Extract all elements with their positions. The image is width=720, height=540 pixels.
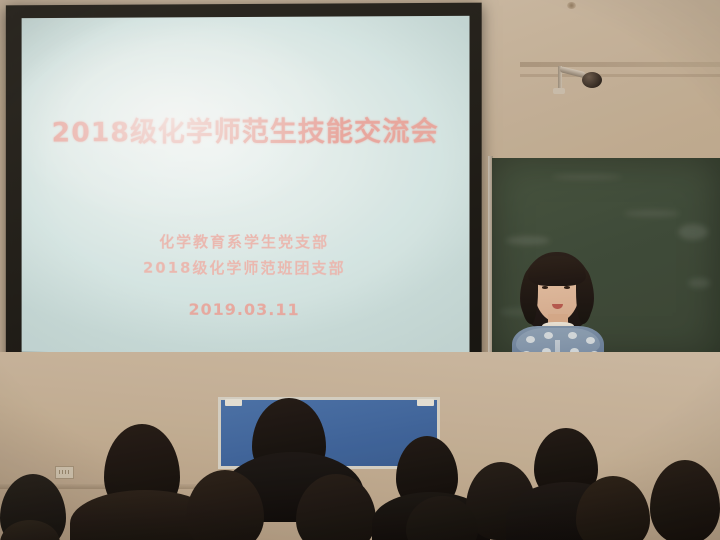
projection-screen: 2018级化学师范生技能交流会 化学教育系学生党支部 2018级化学师范班团支部… <box>22 16 470 354</box>
presenter-eye-right <box>564 286 570 289</box>
security-camera-icon <box>582 72 602 88</box>
lecture-hall-photo: 2018级化学师范生技能交流会 化学教育系学生党支部 2018级化学师范班团支部… <box>0 0 720 540</box>
wall-power-outlet <box>55 466 74 479</box>
presenter-eye-left <box>542 286 548 289</box>
slide-date: 2019.03.11 <box>22 299 470 320</box>
ceiling-fixture-icon <box>567 2 576 9</box>
ceiling-beam <box>520 62 720 67</box>
slide-title: 2018级化学师范生技能交流会 <box>22 109 470 149</box>
slide-subtitle-line1: 化学教育系学生党支部 <box>22 231 470 253</box>
camera-bracket <box>553 88 565 94</box>
projection-screen-frame: 2018级化学师范生技能交流会 化学教育系学生党支部 2018级化学师范班团支部… <box>6 3 482 370</box>
slide-subtitle-line2: 2018级化学师范班团支部 <box>22 257 470 279</box>
ceiling-beam-secondary <box>520 74 720 77</box>
